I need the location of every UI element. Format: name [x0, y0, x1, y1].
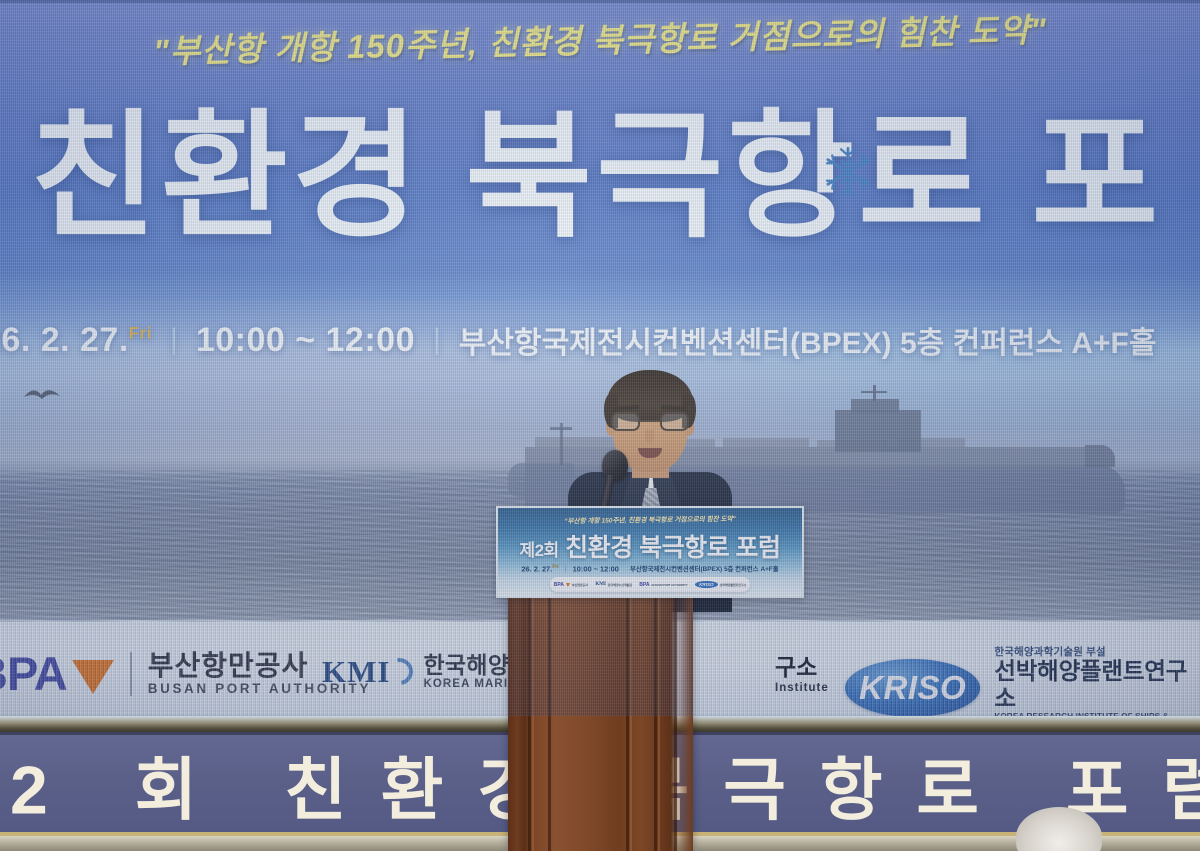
podium-sign-day: Fri — [552, 564, 558, 570]
screen-date: 26. 2. 27.Fri — [0, 321, 152, 360]
glasses-lens-left — [611, 412, 640, 431]
screen-tagline: "부산항 개항 150주년, 친환경 북극항로 거점으로의 힘찬 도약" — [0, 0, 1200, 77]
logo-bpa: BPA 부산항만공사 BUSAN PORT AUTHORITY — [0, 646, 371, 701]
mini-logo-kmi: KMI 한국해양수산개발원 — [595, 582, 632, 587]
podium-sep-1: | — [565, 564, 567, 573]
kmi-wordmark: KMI — [322, 654, 390, 690]
kriso-parent-line: 한국해양과학기술원 부설 — [994, 646, 1200, 658]
screen-top-edge — [0, 0, 1200, 3]
occluded-korean-fragment: 구소 — [775, 648, 829, 682]
mini-kriso-mark: KRISO — [695, 581, 718, 588]
mini-bpa2-label: BUSAN PORT AUTHORITY — [652, 583, 688, 587]
mini-kmi-label: 한국해양수산개발원 — [608, 583, 632, 587]
triangle-down-icon — [72, 660, 114, 694]
occluded-english-fragment: Institute — [775, 682, 829, 694]
photo-scene: "부산항 개항 150주년, 친환경 북극항로 거점으로의 힘찬 도약" 친환경… — [0, 0, 1200, 851]
podium-sign-title: 제2회 친환경 북극항로 포럼 — [498, 528, 802, 564]
mini-kmi-mark: KMI — [595, 582, 606, 587]
podium-sign-time: 10:00 ~ 12:00 — [573, 564, 619, 573]
mini-logo-kriso: KRISO 선박해양플랜트연구소 — [695, 581, 746, 588]
mini-triangle-down-icon — [566, 583, 570, 587]
podium-sign-edition: 제2회 — [519, 541, 558, 560]
podium-sign-logo-strip: BPA 부산항만공사 KMI 한국해양수산개발원 BPA BUSAN PORT … — [550, 577, 750, 592]
glasses-lens-right — [660, 412, 689, 431]
separator-1: | — [170, 323, 178, 357]
separator-2: | — [433, 323, 441, 357]
podium-sign-tagline: "부산항 개항 150주년, 친환경 북극항로 거점으로의 힘찬 도약" — [498, 512, 802, 526]
podium-sign-title-text: 친환경 북극항로 포럼 — [565, 534, 780, 562]
glasses-bridge — [640, 420, 660, 422]
mini-kriso-label: 선박해양플랜트연구소 — [720, 583, 747, 587]
logo-kriso: KRISO 한국해양과학기술원 부설 선박해양플랜트연구소 KOREA RESE… — [845, 646, 1200, 716]
mini-logo-bpa: BPA 부산항만공사 — [554, 582, 588, 588]
logo-divider — [130, 652, 132, 696]
mini-logo-bpa-2: BPA BUSAN PORT AUTHORITY — [639, 582, 687, 588]
glasses-icon — [610, 412, 690, 432]
podium — [508, 594, 693, 851]
podium-sign-info: 26. 2. 27.Fri | 10:00 ~ 12:00 부산항국제전시컨벤션… — [498, 564, 802, 573]
microphone-icon — [602, 450, 628, 481]
screen-venue: 부산항국제전시컨벤션센터(BPEX) 5층 컨퍼런스 A+F홀 — [459, 318, 1157, 362]
mini-bpa2-mark: BPA — [639, 582, 649, 588]
kriso-korean-name: 선박해양플랜트연구소 — [994, 658, 1200, 712]
kriso-wordmark: KRISO — [845, 659, 980, 716]
podium-signboard: "부산항 개항 150주년, 친환경 북극항로 거점으로의 힘찬 도약" 제2회… — [496, 506, 804, 598]
bpa-wordmark: BPA — [0, 646, 67, 701]
day-of-week: Fri — [129, 323, 152, 342]
main-title-text: 친환경 북극항로 포 — [30, 108, 1162, 246]
speaker-nose — [645, 430, 654, 444]
date-value: 26. 2. 27. — [0, 321, 129, 359]
screen-time: 10:00 ~ 12:00 — [196, 321, 415, 360]
seabird-icon — [22, 385, 62, 405]
occluded-logo-fragment: 구소 Institute — [775, 648, 829, 694]
mini-bpa-mark: BPA — [554, 582, 564, 588]
snowflake-icon — [820, 144, 876, 200]
mini-bpa-label: 부산항만공사 — [572, 583, 588, 587]
podium-sign-venue: 부산항국제전시컨벤션센터(BPEX) 5층 컨퍼런스 A+F홀 — [630, 566, 779, 573]
podium-sign-date: 26. 2. 27. — [521, 564, 552, 573]
screen-info-row: 26. 2. 27.Fri | 10:00 ~ 12:00 | 부산항국제전시컨… — [0, 318, 1200, 362]
screen-main-title: 친환경 북극항로 포 — [30, 108, 1162, 246]
